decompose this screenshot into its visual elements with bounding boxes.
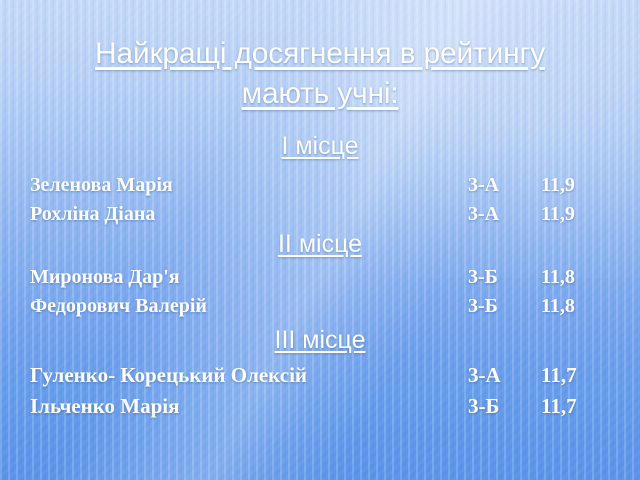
student-name: Рохліна Діана [30,200,155,229]
student-score: 11,8 [541,292,611,321]
table-row: Федорович Валерій 3-Б 11,8 [0,292,640,321]
student-class: 3-Б [468,292,528,321]
student-score: 11,9 [541,200,611,229]
student-name: Зеленова Марія [30,171,173,200]
slide-title-line-2: мають учні: [0,74,640,114]
presentation-slide: Найкращі досягнення в рейтингу мають учн… [0,0,640,480]
section-heading-third-place: ІІІ місце [0,325,640,355]
student-score: 11,8 [541,263,611,292]
table-row: Миронова Дар'я 3-Б 11,8 [0,263,640,292]
student-score: 11,7 [541,392,611,421]
slide-title: Найкращі досягнення в рейтингу мають учн… [0,34,640,114]
student-class: 3-А [468,171,528,200]
student-class: 3-Б [468,392,528,421]
table-row: Ільченко Марія 3-Б 11,7 [0,392,640,421]
student-name: Миронова Дар'я [30,263,180,292]
table-row: Рохліна Діана 3-А 11,9 [0,200,640,229]
student-name: Ільченко Марія [30,392,180,421]
student-class: 3-Б [468,263,528,292]
student-name: Гуленко- Корецький Олексій [30,361,307,390]
table-row: Зеленова Марія 3-А 11,9 [0,171,640,200]
student-name: Федорович Валерій [30,292,207,321]
table-row: Гуленко- Корецький Олексій 3-А 11,7 [0,361,640,390]
slide-title-line-1: Найкращі досягнення в рейтингу [0,34,640,74]
student-class: 3-А [468,361,528,390]
section-heading-second-place: ІІ місце [0,229,640,259]
slide-content: Найкращі досягнення в рейтингу мають учн… [0,0,640,480]
student-score: 11,7 [541,361,611,390]
student-score: 11,9 [541,171,611,200]
section-heading-first-place: І місце [0,131,640,161]
student-class: 3-А [468,200,528,229]
